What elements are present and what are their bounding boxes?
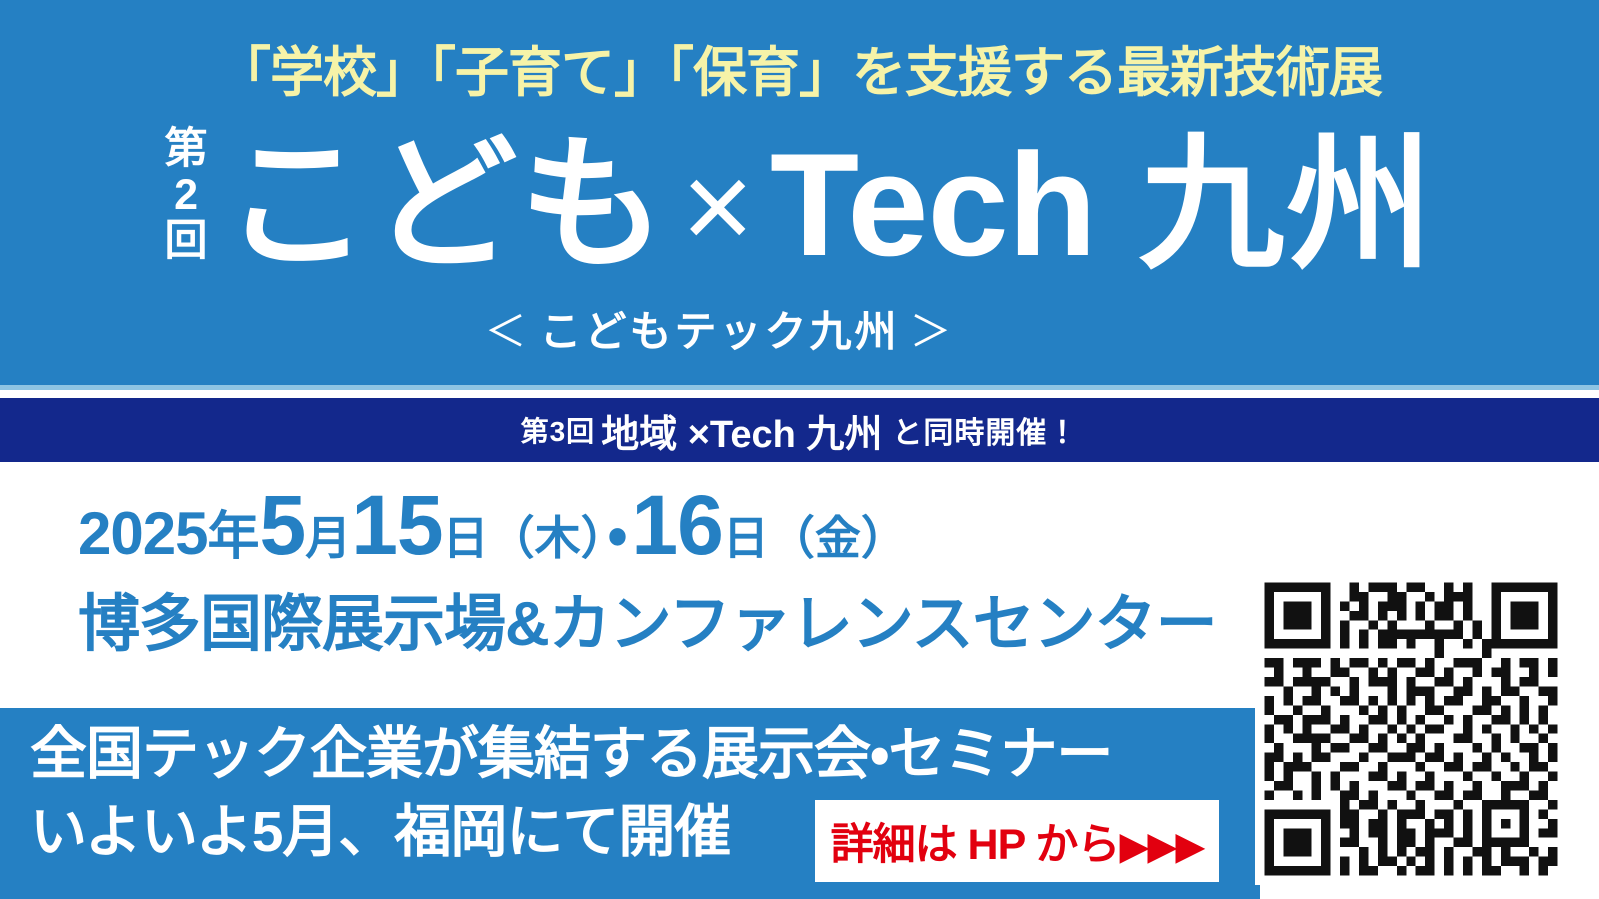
angle-close-icon: ＞ <box>900 308 965 355</box>
qr-code[interactable] <box>1255 573 1567 885</box>
header-separator <box>0 385 1599 390</box>
co-event-emphasis: 地域 ×Tech 九州 <box>595 403 888 458</box>
edition-char-3: 回 <box>165 218 208 264</box>
angle-open-icon: ＜ <box>474 308 539 355</box>
edition-badge: 第 2 回 <box>165 126 208 264</box>
title-row: 第 2 回 こども×Tech 九州 <box>0 126 1599 278</box>
promo-box: 全国テック企業が集結する展示会・セミナー いよいよ5月、福岡にて開催 詳細は H… <box>0 708 1260 899</box>
promo-line-2: いよいよ5月、福岡にて開催 <box>30 804 730 861</box>
date-year: 2025 <box>78 500 207 567</box>
cross-icon: × <box>668 138 770 276</box>
event-date: 2025年5月15日（木）・16日（金） <box>78 483 907 567</box>
date-month-kanji: 月 <box>305 512 351 564</box>
co-event-prefix: 第3回 <box>521 410 596 450</box>
date-day2-weekday: （金） <box>769 512 907 564</box>
co-event-suffix: と同時開催！ <box>888 408 1078 452</box>
event-banner: 「学校」「子育て」「保育」を支援する最新技術展 第 2 回 こども×Tech 九… <box>0 0 1599 899</box>
cta-text: 詳細は HP から▶▶▶ <box>831 810 1204 872</box>
title-part-tech: Tech <box>770 123 1096 286</box>
edition-char-1: 第 <box>165 126 208 172</box>
date-day2-kanji: 日 <box>723 512 769 564</box>
subtitle-reading: ＜こどもテック九州＞ <box>0 298 1599 359</box>
date-day-1: 15 <box>351 478 442 572</box>
title-part-kyushu: 九州 <box>1138 123 1434 286</box>
event-venue: 博多国際展示場&カンファレンスセンター <box>78 594 1217 656</box>
title-part-kodomo: こども <box>224 123 668 286</box>
edition-char-2: 2 <box>174 172 198 218</box>
page-title: こども×Tech 九州 <box>224 132 1435 278</box>
date-month: 5 <box>260 478 306 572</box>
date-day1-weekday: （木） <box>489 512 604 564</box>
promo-line-1: 全国テック企業が集結する展示会・セミナー <box>30 726 1112 783</box>
date-separator: ・ <box>604 502 632 567</box>
tagline: 「学校」「子育て」「保育」を支援する最新技術展 <box>0 28 1599 107</box>
date-day-2: 16 <box>631 478 722 572</box>
subtitle-text: こどもテック九州 <box>539 308 899 355</box>
date-year-kanji: 年 <box>207 508 259 566</box>
co-event-band: 第3回 地域 ×Tech 九州 と同時開催！ <box>0 398 1599 462</box>
date-day1-kanji: 日 <box>443 512 489 564</box>
cta-button[interactable]: 詳細は HP から▶▶▶ <box>815 800 1219 882</box>
arrow-right-icon: ▶▶▶ <box>1119 825 1203 868</box>
cta-label: 詳細は HP から <box>831 821 1120 869</box>
